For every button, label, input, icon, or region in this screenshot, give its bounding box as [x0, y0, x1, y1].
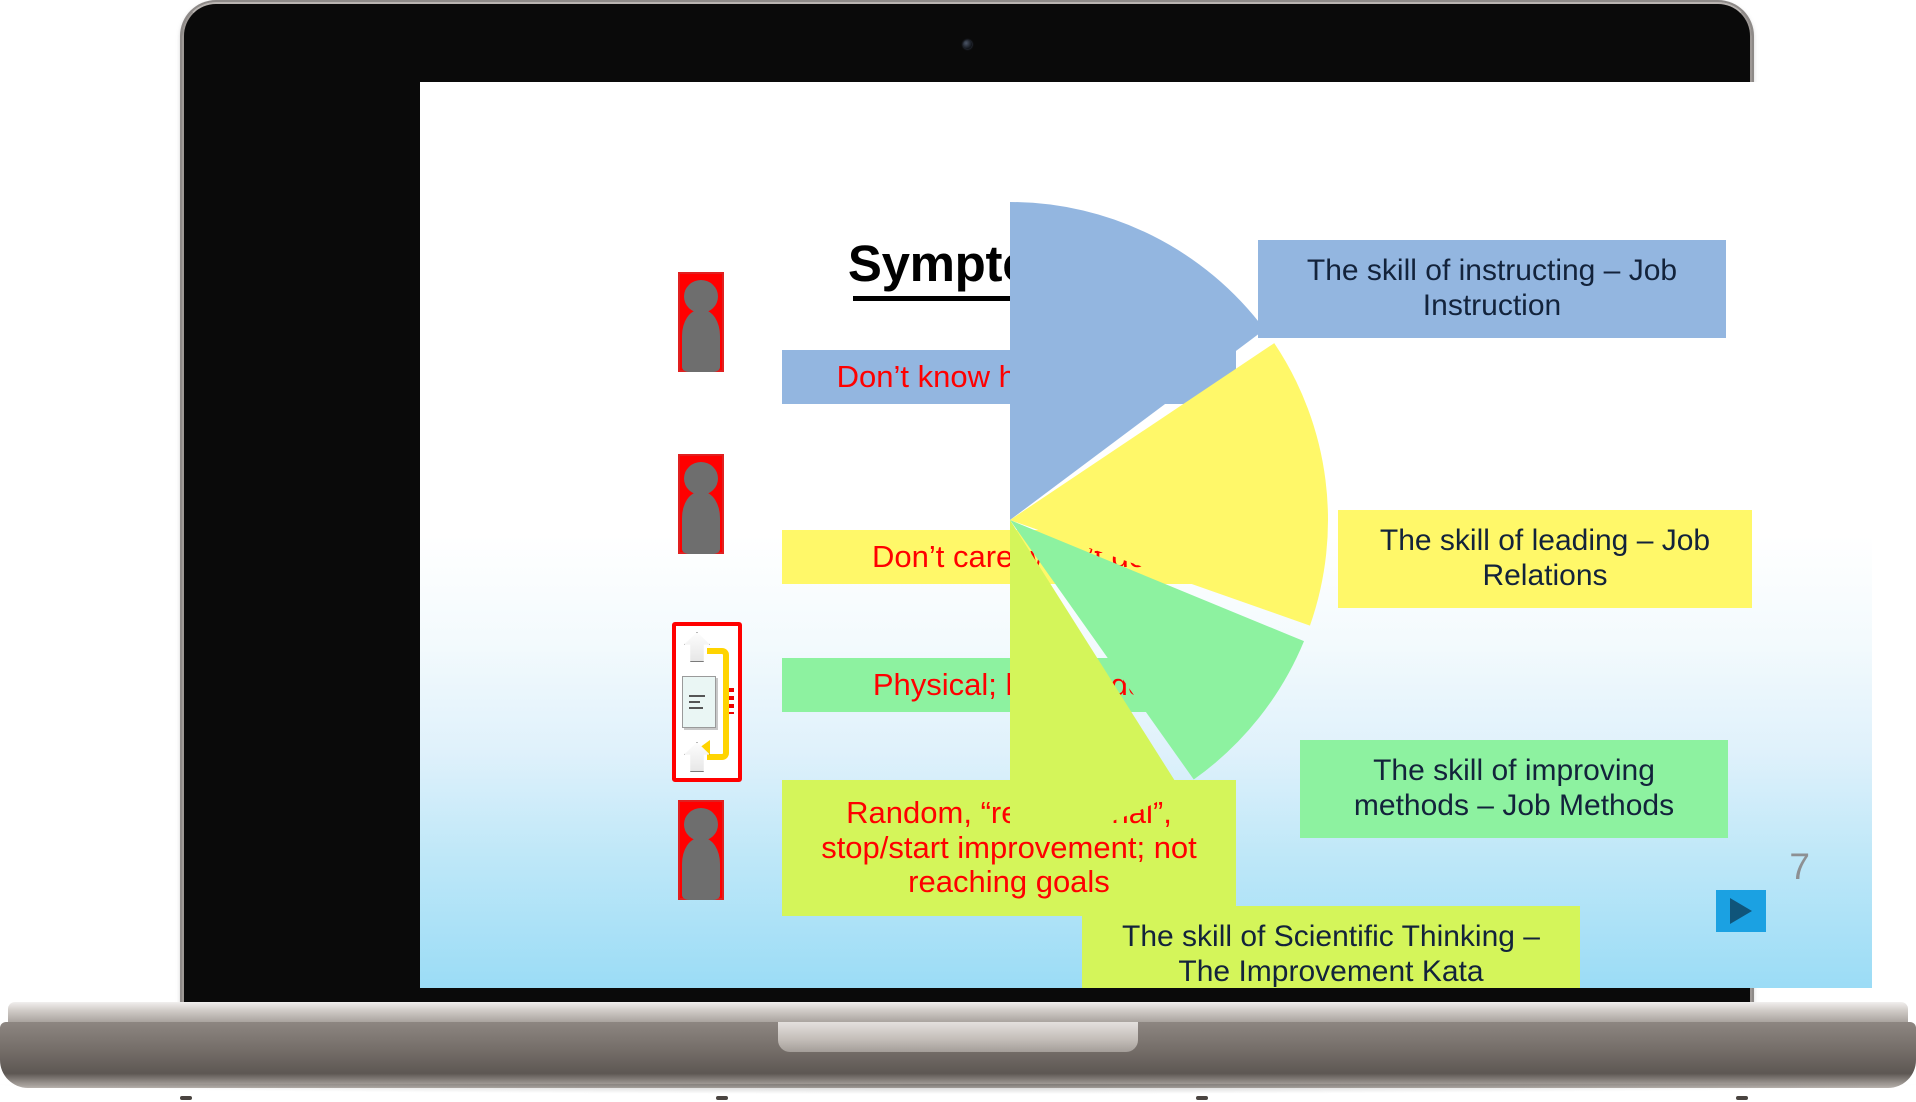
- person-icon: [678, 272, 724, 372]
- skill-label-job-relations[interactable]: The skill of leading – Job Relations: [1338, 510, 1752, 608]
- loop-dots: [729, 688, 734, 714]
- person-body: [682, 492, 720, 554]
- laptop-scene: Symptom: [0, 0, 1916, 1102]
- laptop-foot: [716, 1096, 728, 1100]
- loop-arrow-path: [707, 648, 729, 760]
- person-head: [684, 462, 718, 495]
- laptop-foot: [1736, 1096, 1748, 1100]
- laptop-shadow: [0, 1084, 1916, 1094]
- webcam-icon: [963, 40, 972, 49]
- person-head: [684, 808, 718, 841]
- play-triangle-icon: [1730, 898, 1752, 924]
- laptop-base: [0, 1002, 1916, 1094]
- laptop-base-top-edge: [8, 1002, 1908, 1024]
- person-icon: [678, 454, 724, 554]
- laptop-foot: [1196, 1096, 1208, 1100]
- skill-label-job-instruction[interactable]: The skill of instructing – Job Instructi…: [1258, 240, 1726, 338]
- person-body: [682, 310, 720, 372]
- laptop-hinge: [778, 1022, 1138, 1052]
- person-icon: [678, 800, 724, 900]
- person-body: [682, 838, 720, 900]
- plate-line: [689, 701, 700, 703]
- skill-label-improvement-kata[interactable]: The skill of Scientific Thinking – The I…: [1082, 906, 1580, 988]
- process-loop-icon: [672, 622, 742, 782]
- laptop-lid: Symptom: [182, 2, 1752, 1054]
- next-slide-button[interactable]: [1716, 890, 1766, 932]
- person-head: [684, 280, 718, 313]
- laptop-screen: Symptom: [420, 82, 1872, 988]
- laptop-base-body: [0, 1022, 1916, 1088]
- plate-line: [689, 707, 703, 709]
- laptop-foot: [180, 1096, 192, 1100]
- skill-label-job-methods[interactable]: The skill of improving methods – Job Met…: [1300, 740, 1728, 838]
- plate-line: [689, 695, 705, 697]
- slide-number: 7: [1789, 846, 1810, 888]
- presentation-slide: Symptom: [420, 82, 1872, 988]
